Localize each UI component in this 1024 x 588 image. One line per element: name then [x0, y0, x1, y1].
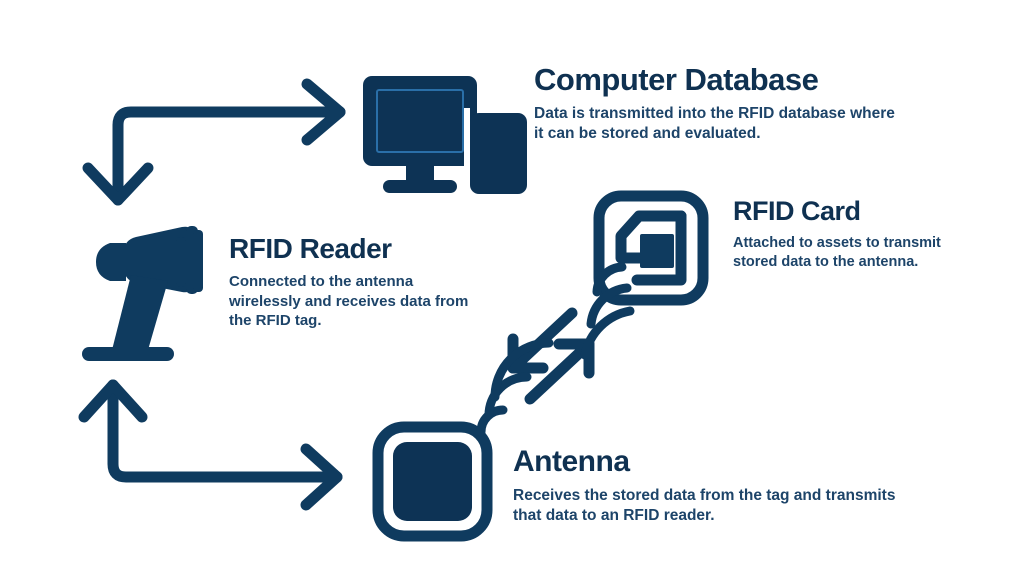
connector-antenna-to-reader [84, 385, 337, 477]
rfid-reader-title: RFID Reader [229, 235, 487, 263]
antenna-description: Receives the stored data from the tag an… [513, 486, 913, 526]
connector-antenna-card-exchange [513, 313, 589, 399]
node-rfid-card: RFID Card Attached to assets to transmit… [733, 198, 953, 272]
node-rfid-reader: RFID Reader Connected to the antenna wir… [229, 235, 487, 331]
computer-database-title: Computer Database [534, 64, 906, 95]
node-antenna: Antenna Receives the stored data from th… [513, 447, 913, 526]
monitor-tablet-icon [363, 76, 527, 198]
rfid-card-title: RFID Card [733, 198, 953, 225]
rfid-tag-icon [585, 196, 703, 355]
node-computer-database: Computer Database Data is transmitted in… [534, 64, 906, 144]
computer-database-description: Data is transmitted into the RFID databa… [534, 104, 906, 144]
rfid-card-description: Attached to assets to transmit stored da… [733, 234, 953, 272]
rfid-reader-description: Connected to the antenna wirelessly and … [229, 272, 487, 331]
connector-reader-to-database [118, 84, 340, 200]
barcode-scanner-icon [82, 226, 203, 361]
antenna-title: Antenna [513, 447, 913, 477]
